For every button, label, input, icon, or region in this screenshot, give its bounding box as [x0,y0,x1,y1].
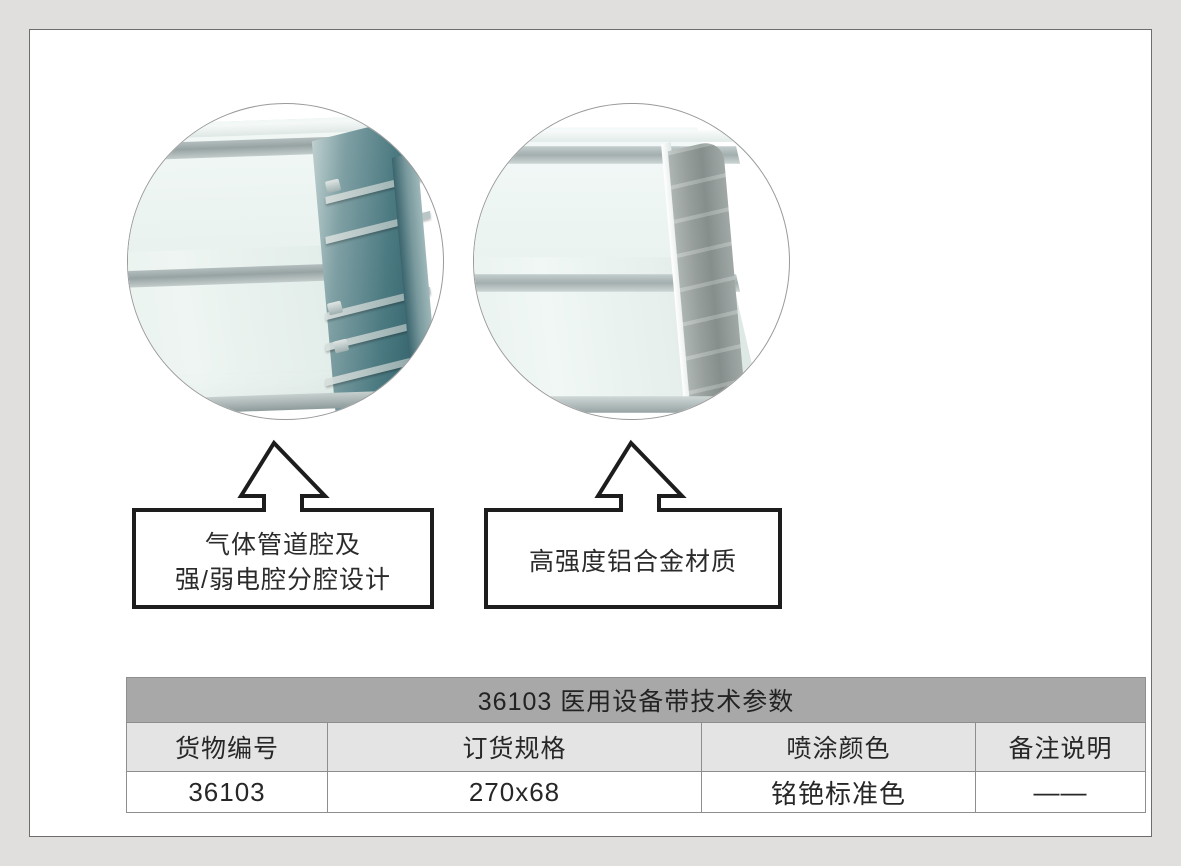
spec-table: 36103 医用设备带技术参数 货物编号 订货规格 喷涂颜色 备注说明 3610… [126,677,1146,813]
spec-cell-item-no: 36103 [127,772,328,813]
callout-right: 高强度铝合金材质 [481,439,785,611]
table-row: 36103 270x68 铭铯标准色 —— [127,772,1146,813]
poster-page: 气体管道腔及 强/弱电腔分腔设计 高强度铝合金材质 36103 医用设备带技术参… [0,0,1181,866]
spec-table-header-remark: 备注说明 [976,723,1146,772]
callout-left: 气体管道腔及 强/弱电腔分腔设计 [129,439,437,611]
aluminium-profile-exterior-illustration [474,104,789,419]
spec-table-title: 36103 医用设备带技术参数 [127,678,1146,723]
callout-right-outline [481,439,785,611]
aluminium-profile-section-illustration [128,104,443,419]
product-photo-right [473,103,790,420]
spec-table-header-item-no: 货物编号 [127,723,328,772]
spec-cell-color: 铭铯标准色 [702,772,976,813]
spec-table-title-row: 36103 医用设备带技术参数 [127,678,1146,723]
spec-cell-remark: —— [976,772,1146,813]
spec-table-header-spec: 订货规格 [328,723,702,772]
callout-left-label: 气体管道腔及 强/弱电腔分腔设计 [129,528,437,598]
spec-table-header-row: 货物编号 订货规格 喷涂颜色 备注说明 [127,723,1146,772]
profile-top-cap [473,130,739,142]
profile-bottom-lip [473,396,740,413]
poster-inner-frame: 气体管道腔及 强/弱电腔分腔设计 高强度铝合金材质 36103 医用设备带技术参… [29,29,1152,837]
spec-cell-spec: 270x68 [328,772,702,813]
spec-table-header-color: 喷涂颜色 [702,723,976,772]
product-photo-left [127,103,444,420]
callout-right-label: 高强度铝合金材质 [481,545,785,580]
